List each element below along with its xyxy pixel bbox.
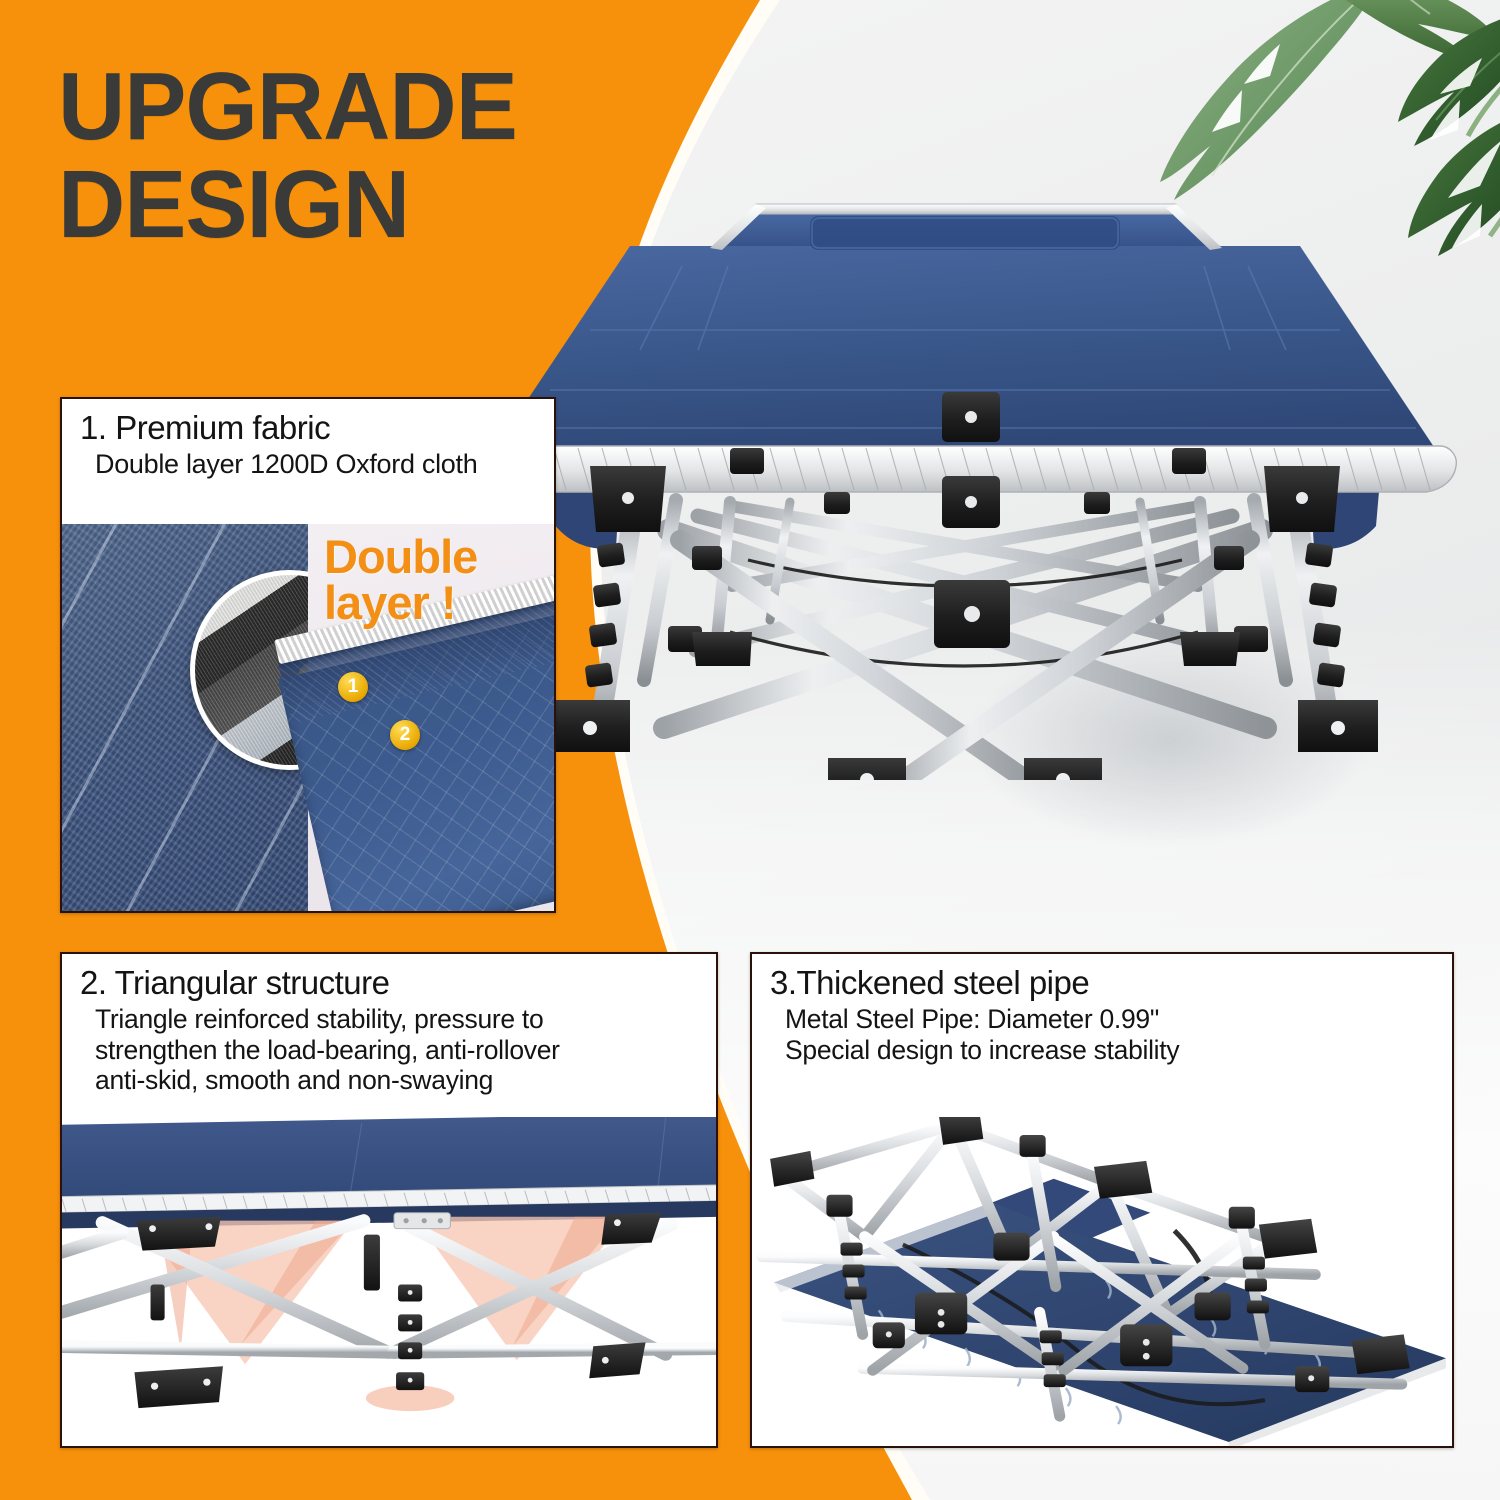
panel2-subtitle-line-1: Triangle reinforced stability, pressure … <box>95 1004 716 1035</box>
panel-premium-fabric: 1. Premium fabric Double layer 1200D Oxf… <box>60 397 556 913</box>
hero-cot-image <box>430 180 1500 780</box>
panel1-subtitle: Double layer 1200D Oxford cloth <box>80 449 554 480</box>
panel2-subtitle-line-2: strengthen the load-bearing, anti-rollov… <box>95 1035 716 1066</box>
cot-underside-triangle-diagram <box>62 1117 716 1446</box>
panel1-photo: 1 2 Double layer ! 1 2 <box>62 524 554 911</box>
panel2-title: 2. Triangular structure <box>80 966 716 999</box>
badge-layer-2-right: 2 <box>390 720 420 750</box>
panel3-subtitle-line-1: Metal Steel Pipe: Diameter 0.99" <box>785 1004 1452 1035</box>
page-title: UPGRADE DESIGN <box>58 58 659 254</box>
panel3-title: 3.Thickened steel pipe <box>770 966 1452 999</box>
panel1-header: 1. Premium fabric Double layer 1200D Oxf… <box>62 399 554 486</box>
double-layer-callout: Double layer ! <box>324 534 477 626</box>
panel1-title: 1. Premium fabric <box>80 411 554 444</box>
panel3-subtitle: Metal Steel Pipe: Diameter 0.99" Special… <box>770 1004 1452 1065</box>
panel2-subtitle-line-3: anti-skid, smooth and non-swaying <box>95 1065 716 1096</box>
callout-line-1: Double <box>324 530 477 583</box>
fabric-macro-right: Double layer ! 1 2 <box>308 524 554 911</box>
title-line-2: DESIGN <box>58 156 659 254</box>
panel2-photo <box>62 1117 716 1446</box>
callout-line-2: layer ! <box>324 576 455 629</box>
infographic-canvas: UPGRADE DESIGN 1. Premium fabric Double … <box>0 0 1500 1500</box>
badge-layer-1-right: 1 <box>338 672 368 702</box>
panel3-photo <box>752 1117 1452 1446</box>
panel3-subtitle-line-2: Special design to increase stability <box>785 1035 1452 1066</box>
panel3-header: 3.Thickened steel pipe Metal Steel Pipe:… <box>752 954 1452 1071</box>
panel2-header: 2. Triangular structure Triangle reinfor… <box>62 954 716 1102</box>
panel-thickened-steel-pipe: 3.Thickened steel pipe Metal Steel Pipe:… <box>750 952 1454 1448</box>
panel-triangular-structure: 2. Triangular structure Triangle reinfor… <box>60 952 718 1448</box>
title-line-1: UPGRADE <box>58 53 517 160</box>
cot-frame-underside-image <box>752 1117 1452 1446</box>
panel2-subtitle: Triangle reinforced stability, pressure … <box>80 1004 716 1096</box>
